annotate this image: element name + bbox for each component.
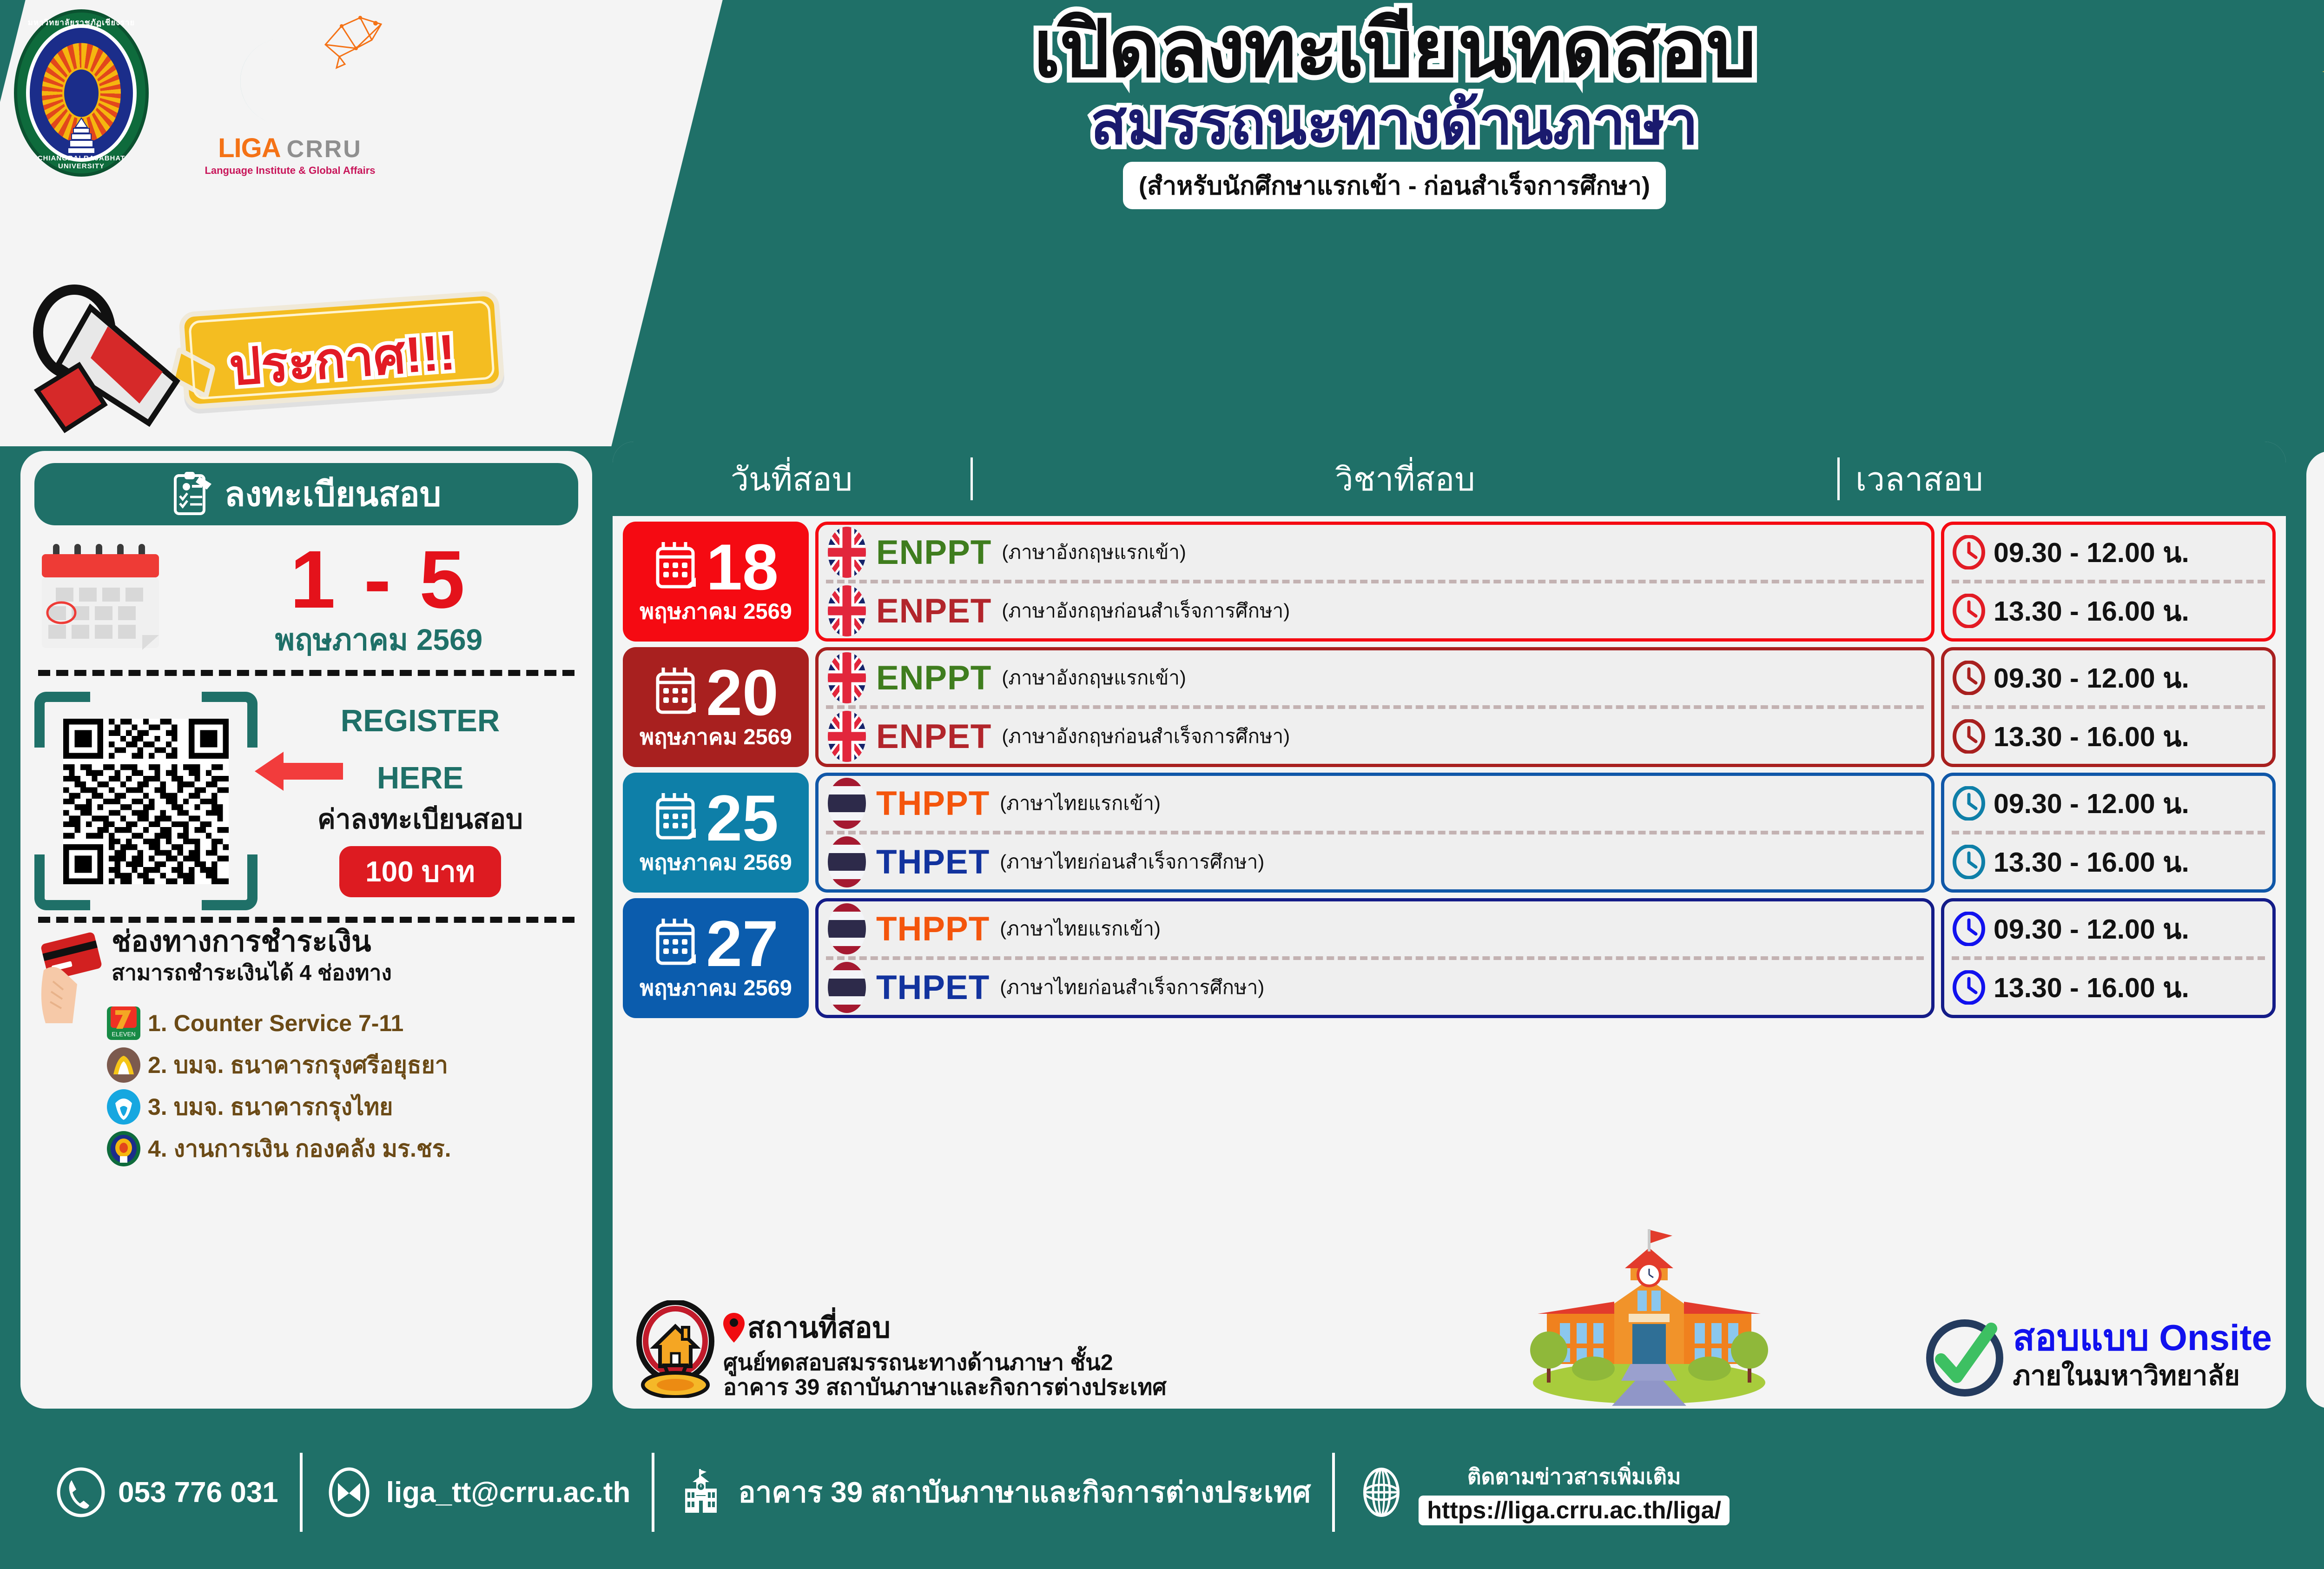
payment-methods-list: ELEVEN 1. Counter Service 7-11 2. บมจ. ธ… xyxy=(34,1004,578,1168)
time-entry: 13.30 - 16.00 น. xyxy=(1944,709,2272,764)
exam-time: 09.30 - 12.00 น. xyxy=(1994,656,2189,700)
manual-line2: ระบบลงทะเบียน xyxy=(2306,671,2324,704)
home-location-icon xyxy=(631,1300,720,1398)
seats-label: จำนวนที่นั่ง / รอบ xyxy=(2306,468,2324,504)
payment-method-label: 2. บมจ. ธนาคารกรุงศรีอยุธยา xyxy=(148,1047,448,1084)
school-building-icon xyxy=(1519,1211,1779,1406)
payment-title: ช่องทางการชำระเงิน xyxy=(112,927,578,957)
time-entry: 13.30 - 16.00 น. xyxy=(1944,583,2272,638)
subject-description: (ภาษาอังกฤษก่อนสำเร็จการศึกษา) xyxy=(1002,721,1290,752)
liga-tagline: Language Institute & Global Affairs xyxy=(202,165,378,177)
column-header-date: วันที่สอบ xyxy=(613,453,971,505)
exam-time: 13.30 - 16.00 น. xyxy=(1994,715,2189,758)
subject-entry: ENPPT (ภาษาอังกฤษแรกเข้า) xyxy=(819,525,1931,580)
svg-text:ELEVEN: ELEVEN xyxy=(112,1031,135,1038)
subject-code: ENPPT xyxy=(876,659,991,697)
seal-bottom-text: CHIANGRAI RAJABHAT UNIVERSITY xyxy=(14,154,149,170)
school-building-small-icon xyxy=(676,1467,726,1517)
calendar-small-icon xyxy=(653,791,701,845)
clock-icon xyxy=(1952,912,1986,946)
exam-subject-cell: THPPT (ภาษาไทยแรกเข้า) THPET (ภาษาไทยก่อ… xyxy=(815,898,1934,1018)
check-circle-icon xyxy=(1925,1318,2004,1397)
thailand-flag-icon xyxy=(828,836,866,887)
footer-building: อาคาร 39 สถาบันภาษาและกิจการต่างประเทศ xyxy=(738,1470,1311,1515)
poster-title-line2: สมรรถนะทางด้านภาษา xyxy=(535,93,2254,155)
uk-flag-icon xyxy=(828,585,866,636)
payment-method-label: 4. งานการเงิน กองคลัง มร.ชร. xyxy=(148,1131,451,1167)
exam-time-cell: 09.30 - 12.00 น. 13.30 - 16.00 น. xyxy=(1941,647,2276,767)
liga-wordmark: LIGA xyxy=(218,133,279,163)
calendar-small-icon xyxy=(653,917,701,971)
megaphone-icon xyxy=(9,284,205,437)
fee-label: ค่าลงทะเบียนสอบ xyxy=(262,797,578,841)
payment-method-item: 3. บมจ. ธนาคารกรุงไทย xyxy=(104,1087,578,1126)
table-header-row: วันที่สอบ วิชาที่สอบ เวลาสอบ xyxy=(613,442,2286,516)
table-row: 18 พฤษภาคม 2569 ENPPT (ภาษาอังกฤษแรกเข้า… xyxy=(613,516,2286,642)
subject-code: ENPET xyxy=(876,592,991,630)
clock-icon xyxy=(1952,970,1986,1005)
exam-date-badge: 27 พฤษภาคม 2569 xyxy=(623,898,809,1018)
payment-method-item: 4. งานการเงิน กองคลัง มร.ชร. xyxy=(104,1129,578,1168)
pagoda-icon xyxy=(60,117,102,154)
subject-code: THPET xyxy=(876,843,990,881)
manual-line1: คู่มือการใช้งาน xyxy=(2306,633,2324,666)
registration-heading: ลงทะเบียนสอบ xyxy=(34,463,578,525)
table-row: 25 พฤษภาคม 2569 THPPT (ภาษาไทยแรกเข้า) xyxy=(613,767,2286,893)
calendar-small-icon xyxy=(653,540,701,594)
payment-method-label: 1. Counter Service 7-11 xyxy=(148,1010,403,1037)
qr-scan-frame xyxy=(34,692,257,910)
exam-time-cell: 09.30 - 12.00 น. 13.30 - 16.00 น. xyxy=(1941,898,2276,1018)
graduation-books-icon xyxy=(2254,2,2324,411)
subject-code: ENPET xyxy=(876,717,991,756)
exam-day: 20 xyxy=(706,663,779,722)
exam-month: พฤษภาคม 2569 xyxy=(640,970,792,1005)
footer-phone-item: 053 776 031 xyxy=(56,1467,278,1517)
payment-method-item: ELEVEN 1. Counter Service 7-11 xyxy=(104,1004,578,1043)
registration-date-block: 1 - 5 พฤษภาคม 2569 xyxy=(34,541,578,663)
registration-date-range: 1 - 5 xyxy=(179,541,578,619)
clock-icon xyxy=(1952,535,1986,569)
register-here-line1: REGISTER xyxy=(262,705,578,736)
globe-icon xyxy=(1356,1467,1406,1517)
clock-icon xyxy=(1952,845,1986,879)
footer-follow-label: ติดตามข่าวสารเพิ่มเติม xyxy=(1467,1460,1681,1494)
thailand-flag-icon xyxy=(828,962,866,1013)
arrow-left-icon xyxy=(255,750,343,793)
footer-divider xyxy=(300,1453,303,1532)
contact-footer: 053 776 031 liga_tt@crru.ac.th xyxy=(0,1416,2324,1569)
subject-entry: THPET (ภาษาไทยก่อนสำเร็จการศึกษา) xyxy=(819,960,1931,1015)
payment-subtitle: สามารถชำระเงินได้ 4 ช่องทาง xyxy=(112,956,578,990)
dove-icon xyxy=(316,12,390,73)
fee-amount-badge: 100 บาท xyxy=(339,846,501,897)
phone-icon xyxy=(56,1467,106,1517)
clock-icon xyxy=(1952,661,1986,695)
footer-email[interactable]: liga_tt@crru.ac.th xyxy=(386,1476,631,1509)
venue-block: สถานที่สอบ ศูนย์ทดสอบสมรรถนะทางด้านภาษา … xyxy=(631,1300,1167,1401)
exam-time: 09.30 - 12.00 น. xyxy=(1994,530,2189,574)
poster-title-subtitle: (สำหรับนักศึกษาแรกเข้า - ก่อนสำเร็จการศึ… xyxy=(1139,166,1650,205)
crru-finance-icon xyxy=(104,1129,143,1168)
onsite-line2: ภายในมหาวิทยาลัย xyxy=(2013,1354,2272,1397)
subject-entry: THPPT (ภาษาไทยแรกเข้า) xyxy=(819,901,1931,956)
subject-code: THPPT xyxy=(876,784,990,823)
subject-description: (ภาษาไทยก่อนสำเร็จการศึกษา) xyxy=(1000,847,1264,877)
subject-description: (ภาษาอังกฤษก่อนสำเร็จการศึกษา) xyxy=(1002,596,1290,626)
divider-dashed-top xyxy=(38,670,574,676)
uk-flag-icon xyxy=(828,652,866,703)
column-header-subject: วิชาที่สอบ xyxy=(973,453,1837,505)
subject-description: (ภาษาไทยแรกเข้า) xyxy=(1000,788,1161,819)
table-row: 20 พฤษภาคม 2569 ENPPT (ภาษาอังกฤษแรกเข้า… xyxy=(613,642,2286,767)
time-entry: 13.30 - 16.00 น. xyxy=(1944,834,2272,889)
email-icon xyxy=(324,1467,374,1517)
exam-time: 09.30 - 12.00 น. xyxy=(1994,907,2189,951)
footer-website-item: ติดตามข่าวสารเพิ่มเติม https://liga.crru… xyxy=(1356,1460,1730,1525)
uk-flag-icon xyxy=(828,527,866,578)
seats-count: 50 xyxy=(2306,511,2324,628)
venue-line1: ศูนย์ทดสอบสมรรถนะทางด้านภาษา ชั้น2 xyxy=(723,1351,1167,1376)
calendar-icon xyxy=(34,542,174,663)
exam-subject-cell: ENPPT (ภาษาอังกฤษแรกเข้า) ENPET (ภาษาอัง… xyxy=(815,522,1934,642)
footer-email-item: liga_tt@crru.ac.th xyxy=(324,1467,631,1517)
exam-date-badge: 20 พฤษภาคม 2569 xyxy=(623,647,809,767)
venue-line2: อาคาร 39 สถาบันภาษาและกิจการต่างประเทศ xyxy=(723,1375,1167,1400)
exam-month: พฤษภาคม 2569 xyxy=(640,594,792,629)
map-pin-icon xyxy=(723,1313,745,1343)
exam-subject-cell: ENPPT (ภาษาอังกฤษแรกเข้า) ENPET (ภาษาอัง… xyxy=(815,647,1934,767)
registration-panel: ลงทะเบียนสอบ 1 - 5 พฤษภาคม 25 xyxy=(20,451,592,1409)
liga-crru-logo: LIGA CRRU Language Institute & Global Af… xyxy=(167,9,381,186)
table-row: 27 พฤษภาคม 2569 THPPT (ภาษาไทยแรกเข้า) xyxy=(613,893,2286,1018)
time-divider xyxy=(1952,956,2265,960)
subject-entry: THPPT (ภาษาไทยแรกเข้า) xyxy=(819,776,1931,831)
logo-row: มหาวิทยาลัยราชภัฏเชียงราย CHIANGRAI RAJA… xyxy=(14,9,381,186)
subject-entry: ENPPT (ภาษาอังกฤษแรกเข้า) xyxy=(819,650,1931,705)
subject-entry: THPET (ภาษาไทยก่อนสำเร็จการศึกษา) xyxy=(819,834,1931,889)
exam-time: 09.30 - 12.00 น. xyxy=(1994,781,2189,825)
subject-code: THPET xyxy=(876,968,990,1007)
exam-time: 13.30 - 16.00 น. xyxy=(1994,840,2189,884)
subject-code: ENPPT xyxy=(876,533,991,572)
seven-eleven-icon: ELEVEN xyxy=(104,1004,143,1043)
subject-divider xyxy=(826,956,1924,960)
subject-entry: ENPET (ภาษาอังกฤษก่อนสำเร็จการศึกษา) xyxy=(819,583,1931,638)
time-entry: 13.30 - 16.00 น. xyxy=(1944,960,2272,1015)
uk-flag-icon xyxy=(828,711,866,762)
subject-description: (ภาษาอังกฤษแรกเข้า) xyxy=(1002,662,1186,693)
exam-time-cell: 09.30 - 12.00 น. 13.30 - 16.00 น. xyxy=(1941,773,2276,893)
subject-description: (ภาษาอังกฤษแรกเข้า) xyxy=(1002,537,1186,568)
column-header-time: เวลาสอบ xyxy=(1840,453,2286,505)
subject-description: (ภาษาไทยแรกเข้า) xyxy=(1000,914,1161,944)
payment-method-item: 2. บมจ. ธนาคารกรุงศรีอยุธยา xyxy=(104,1046,578,1085)
exam-day: 18 xyxy=(706,538,779,596)
payment-method-label: 3. บมจ. ธนาคารกรุงไทย xyxy=(148,1089,393,1125)
clipboard-checklist-icon xyxy=(172,471,214,517)
exam-date-badge: 18 พฤษภาคม 2569 xyxy=(623,522,809,642)
footer-divider xyxy=(652,1453,654,1532)
venue-label: สถานที่สอบ xyxy=(747,1305,891,1351)
thailand-flag-icon xyxy=(828,778,866,829)
clock-icon xyxy=(1952,719,1986,754)
registration-qr-code[interactable] xyxy=(63,719,229,884)
exam-month: พฤษภาคม 2569 xyxy=(640,719,792,754)
registration-month: พฤษภาคม 2569 xyxy=(179,616,578,663)
exam-time: 13.30 - 16.00 น. xyxy=(1994,966,2189,1009)
divider-dashed-bottom xyxy=(38,917,574,923)
exam-time-cell: 09.30 - 12.00 น. 13.30 - 16.00 น. xyxy=(1941,522,2276,642)
table-body: 18 พฤษภาคม 2569 ENPPT (ภาษาอังกฤษแรกเข้า… xyxy=(613,516,2286,1018)
onsite-block: สอบแบบ Onsite ภายในมหาวิทยาลัย xyxy=(1925,1318,2272,1397)
footer-divider xyxy=(1332,1453,1335,1532)
crru-wordmark: CRRU xyxy=(287,136,362,163)
time-divider xyxy=(1952,831,2265,834)
thailand-flag-icon xyxy=(828,903,866,954)
calendar-small-icon xyxy=(653,666,701,720)
subject-entry: ENPET (ภาษาอังกฤษก่อนสำเร็จการศึกษา) xyxy=(819,709,1931,764)
seats-and-manual-panel: จำนวนที่นั่ง / รอบ 50 คู่มือการใช้งาน ระ… xyxy=(2306,451,2324,1409)
seal-top-text: มหาวิทยาลัยราชภัฏเชียงราย xyxy=(14,16,149,29)
exam-subject-cell: THPPT (ภาษาไทยแรกเข้า) THPET (ภาษาไทยก่อ… xyxy=(815,773,1934,893)
registration-qr-block: REGISTER HERE ค่าลงทะเบียนสอบ 100 บาท xyxy=(34,692,578,910)
clock-icon xyxy=(1952,786,1986,821)
onsite-line1: สอบแบบ Onsite xyxy=(2013,1319,2272,1356)
exam-schedule-table: วันที่สอบ วิชาที่สอบ เวลาสอบ 18 พฤษภาคม … xyxy=(613,442,2286,1409)
time-divider xyxy=(1952,580,2265,583)
register-here-block: REGISTER HERE ค่าลงทะเบียนสอบ 100 บาท xyxy=(262,705,578,897)
subject-divider xyxy=(826,705,1924,709)
krungsri-bank-icon xyxy=(104,1046,143,1085)
krungthai-bank-icon xyxy=(104,1087,143,1126)
subject-divider xyxy=(826,580,1924,583)
poster-title-block: เปิดลงทะเบียนทดสอบ สมรรถนะทางด้านภาษา (ส… xyxy=(535,9,2254,209)
poster-header: มหาวิทยาลัยราชภัฏเชียงราย CHIANGRAI RAJA… xyxy=(0,0,2324,435)
footer-phone[interactable]: 053 776 031 xyxy=(118,1476,278,1509)
exam-day: 27 xyxy=(706,914,779,973)
clock-icon xyxy=(1952,594,1986,628)
subject-code: THPPT xyxy=(876,910,990,948)
time-entry: 09.30 - 12.00 น. xyxy=(1944,901,2272,956)
exam-time: 13.30 - 16.00 น. xyxy=(1994,589,2189,633)
time-entry: 09.30 - 12.00 น. xyxy=(1944,650,2272,705)
credit-card-hand-icon xyxy=(34,930,109,1023)
exam-day: 25 xyxy=(706,789,779,847)
time-divider xyxy=(1952,705,2265,709)
time-entry: 09.30 - 12.00 น. xyxy=(1944,776,2272,831)
footer-website-url[interactable]: https://liga.crru.ac.th/liga/ xyxy=(1427,1496,1721,1524)
registration-heading-label: ลงทะเบียนสอบ xyxy=(224,467,441,521)
exam-date-badge: 25 พฤษภาคม 2569 xyxy=(623,773,809,893)
footer-building-item: อาคาร 39 สถาบันภาษาและกิจการต่างประเทศ xyxy=(676,1467,1311,1517)
subject-description: (ภาษาไทยก่อนสำเร็จการศึกษา) xyxy=(1000,972,1264,1003)
time-entry: 09.30 - 12.00 น. xyxy=(1944,525,2272,580)
exam-month: พฤษภาคม 2569 xyxy=(640,845,792,880)
crru-university-seal-icon: มหาวิทยาลัยราชภัฏเชียงราย CHIANGRAI RAJA… xyxy=(14,9,149,177)
subject-divider xyxy=(826,831,1924,834)
poster-title-line1: เปิดลงทะเบียนทดสอบ xyxy=(535,9,2254,90)
